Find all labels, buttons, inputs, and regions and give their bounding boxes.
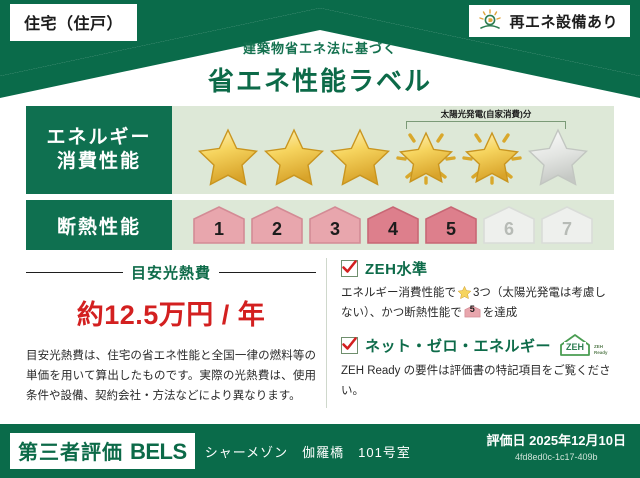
property-name: シャーメゾン 伽羅橋 101号室 (205, 442, 411, 461)
insulation-performance-row: 断熱性能 1 2 3 (26, 200, 614, 250)
star-rating (196, 114, 590, 186)
label-panel: エネルギー 消費性能 太陽光発電(自家消費)分 (14, 96, 626, 420)
utility-cost-description: 目安光熱費は、住宅の省エネ性能と全国一律の燃料等の単価を用いて算出したものです。… (26, 346, 316, 406)
zeh-standard-body-post: を達成 (483, 307, 518, 319)
solar-annotation-label: 太陽光発電(自家消費)分 (406, 108, 566, 120)
star-icon-empty (526, 124, 590, 186)
house-badge-empty: 7 (539, 205, 595, 245)
star-icon (196, 124, 260, 186)
house-badge-icon-value: 5 (464, 302, 481, 318)
energy-performance-row: エネルギー 消費性能 太陽光発電(自家消費)分 (26, 106, 614, 194)
energy-performance-value: 太陽光発電(自家消費)分 (172, 106, 614, 194)
house-badge: 3 (307, 205, 363, 245)
zeh-netzero-item: ネット・ゼロ・エネルギー ZEH ZEH Ready (341, 333, 614, 401)
energy-performance-label-line2: 消費性能 (57, 150, 141, 174)
house-badge-empty: 6 (481, 205, 537, 245)
star-icon-solar (394, 124, 458, 186)
label-header: 建築物省エネ法に基づく 省エネ性能ラベル (0, 38, 640, 98)
evaluation-date: 評価日 2025年12月10日 (487, 430, 626, 449)
label-footer: 第三者評価 BELS シャーメゾン 伽羅橋 101号室 評価日 2025年12月… (0, 424, 640, 478)
energy-performance-label-line1: エネルギー (46, 126, 151, 150)
energy-performance-label: エネルギー 消費性能 (26, 106, 172, 194)
bels-badge-en: BELS (130, 439, 187, 465)
zeh-standard-title: ZEH水準 (365, 258, 428, 279)
star-icon (262, 124, 326, 186)
star-icon-solar (460, 124, 524, 186)
divider-right (219, 272, 316, 273)
utility-cost-amount: 約12.5万円 / 年 (26, 293, 316, 332)
house-badge: 2 (249, 205, 305, 245)
bels-badge: 第三者評価 BELS (10, 433, 195, 469)
zeh-house-logo: ZEH ZEH Ready (558, 333, 608, 357)
checkbox-checked[interactable] (341, 260, 358, 277)
house-badge: 5 (423, 205, 479, 245)
star-icon (328, 124, 392, 186)
evaluation-info: 評価日 2025年12月10日 4fd8ed0c-1c17-409b (487, 430, 626, 462)
detail-columns: 目安光熱費 約12.5万円 / 年 目安光熱費は、住宅の省エネ性能と全国一律の燃… (26, 258, 614, 408)
zeh-standard-head: ZEH水準 (341, 258, 614, 279)
house-badge-value: 3 (330, 219, 340, 245)
utility-cost-heading: 目安光熱費 (26, 262, 316, 283)
sun-icon (477, 9, 503, 33)
house-badge-value: 5 (446, 219, 456, 245)
evaluation-id: 4fd8ed0c-1c17-409b (487, 452, 626, 462)
badge-housing-type: 住宅（住戸） (10, 4, 137, 41)
zeh-logo-sub-line1: ZEH (594, 344, 603, 349)
zeh-standard-body: エネルギー消費性能で3つ（太陽光発電は考慮しない）、かつ断熱性能で5を達成 (341, 283, 614, 323)
utility-cost-heading-label: 目安光熱費 (131, 262, 211, 283)
zeh-netzero-body: ZEH Ready の要件は評価書の特記項目をご覧ください。 (341, 361, 614, 401)
zeh-logo-sub-line2: Ready (594, 350, 608, 355)
check-icon (341, 336, 358, 353)
energy-performance-label: 住宅（住戸） 再エネ設備あり 建築物省エネ法に基づく 省エネ性能ラベル エネルギ… (0, 0, 640, 478)
house-badge-value: 7 (562, 219, 572, 245)
house-badge-value: 1 (214, 219, 224, 245)
zeh-netzero-head: ネット・ゼロ・エネルギー ZEH ZEH Ready (341, 333, 614, 357)
zeh-standard-body-pre: エネルギー消費性能で (341, 287, 456, 299)
check-icon (341, 259, 358, 276)
zeh-standard-item: ZEH水準 エネルギー消費性能で3つ（太陽光発電は考慮しない）、かつ断熱性能で5… (341, 258, 614, 323)
badge-renewable-label: 再エネ設備あり (509, 11, 618, 32)
house-badge-value: 6 (504, 219, 514, 245)
house-badge-value: 4 (388, 219, 398, 245)
zeh-logo-text: ZEH (566, 342, 584, 352)
house-badge-value: 2 (272, 219, 282, 245)
house-badge: 4 (365, 205, 421, 245)
zeh-netzero-title: ネット・ゼロ・エネルギー (365, 335, 551, 356)
insulation-performance-value: 1 2 3 4 (172, 200, 614, 250)
insulation-performance-label: 断熱性能 (26, 200, 172, 250)
divider-left (26, 272, 123, 273)
page-title: 省エネ性能ラベル (0, 61, 640, 98)
house-badge-icon: 5 (464, 305, 481, 318)
utility-cost-section: 目安光熱費 約12.5万円 / 年 目安光熱費は、住宅の省エネ性能と全国一律の燃… (26, 258, 326, 408)
badge-renewable-equipment: 再エネ設備あり (469, 5, 630, 37)
checkbox-checked[interactable] (341, 337, 358, 354)
house-badge: 1 (191, 205, 247, 245)
star-icon (457, 285, 472, 299)
zeh-section: ZEH水準 エネルギー消費性能で3つ（太陽光発電は考慮しない）、かつ断熱性能で5… (326, 258, 614, 408)
zeh-logo-subtext: ZEH Ready (594, 344, 608, 357)
bels-badge-jp: 第三者評価 (18, 436, 123, 465)
